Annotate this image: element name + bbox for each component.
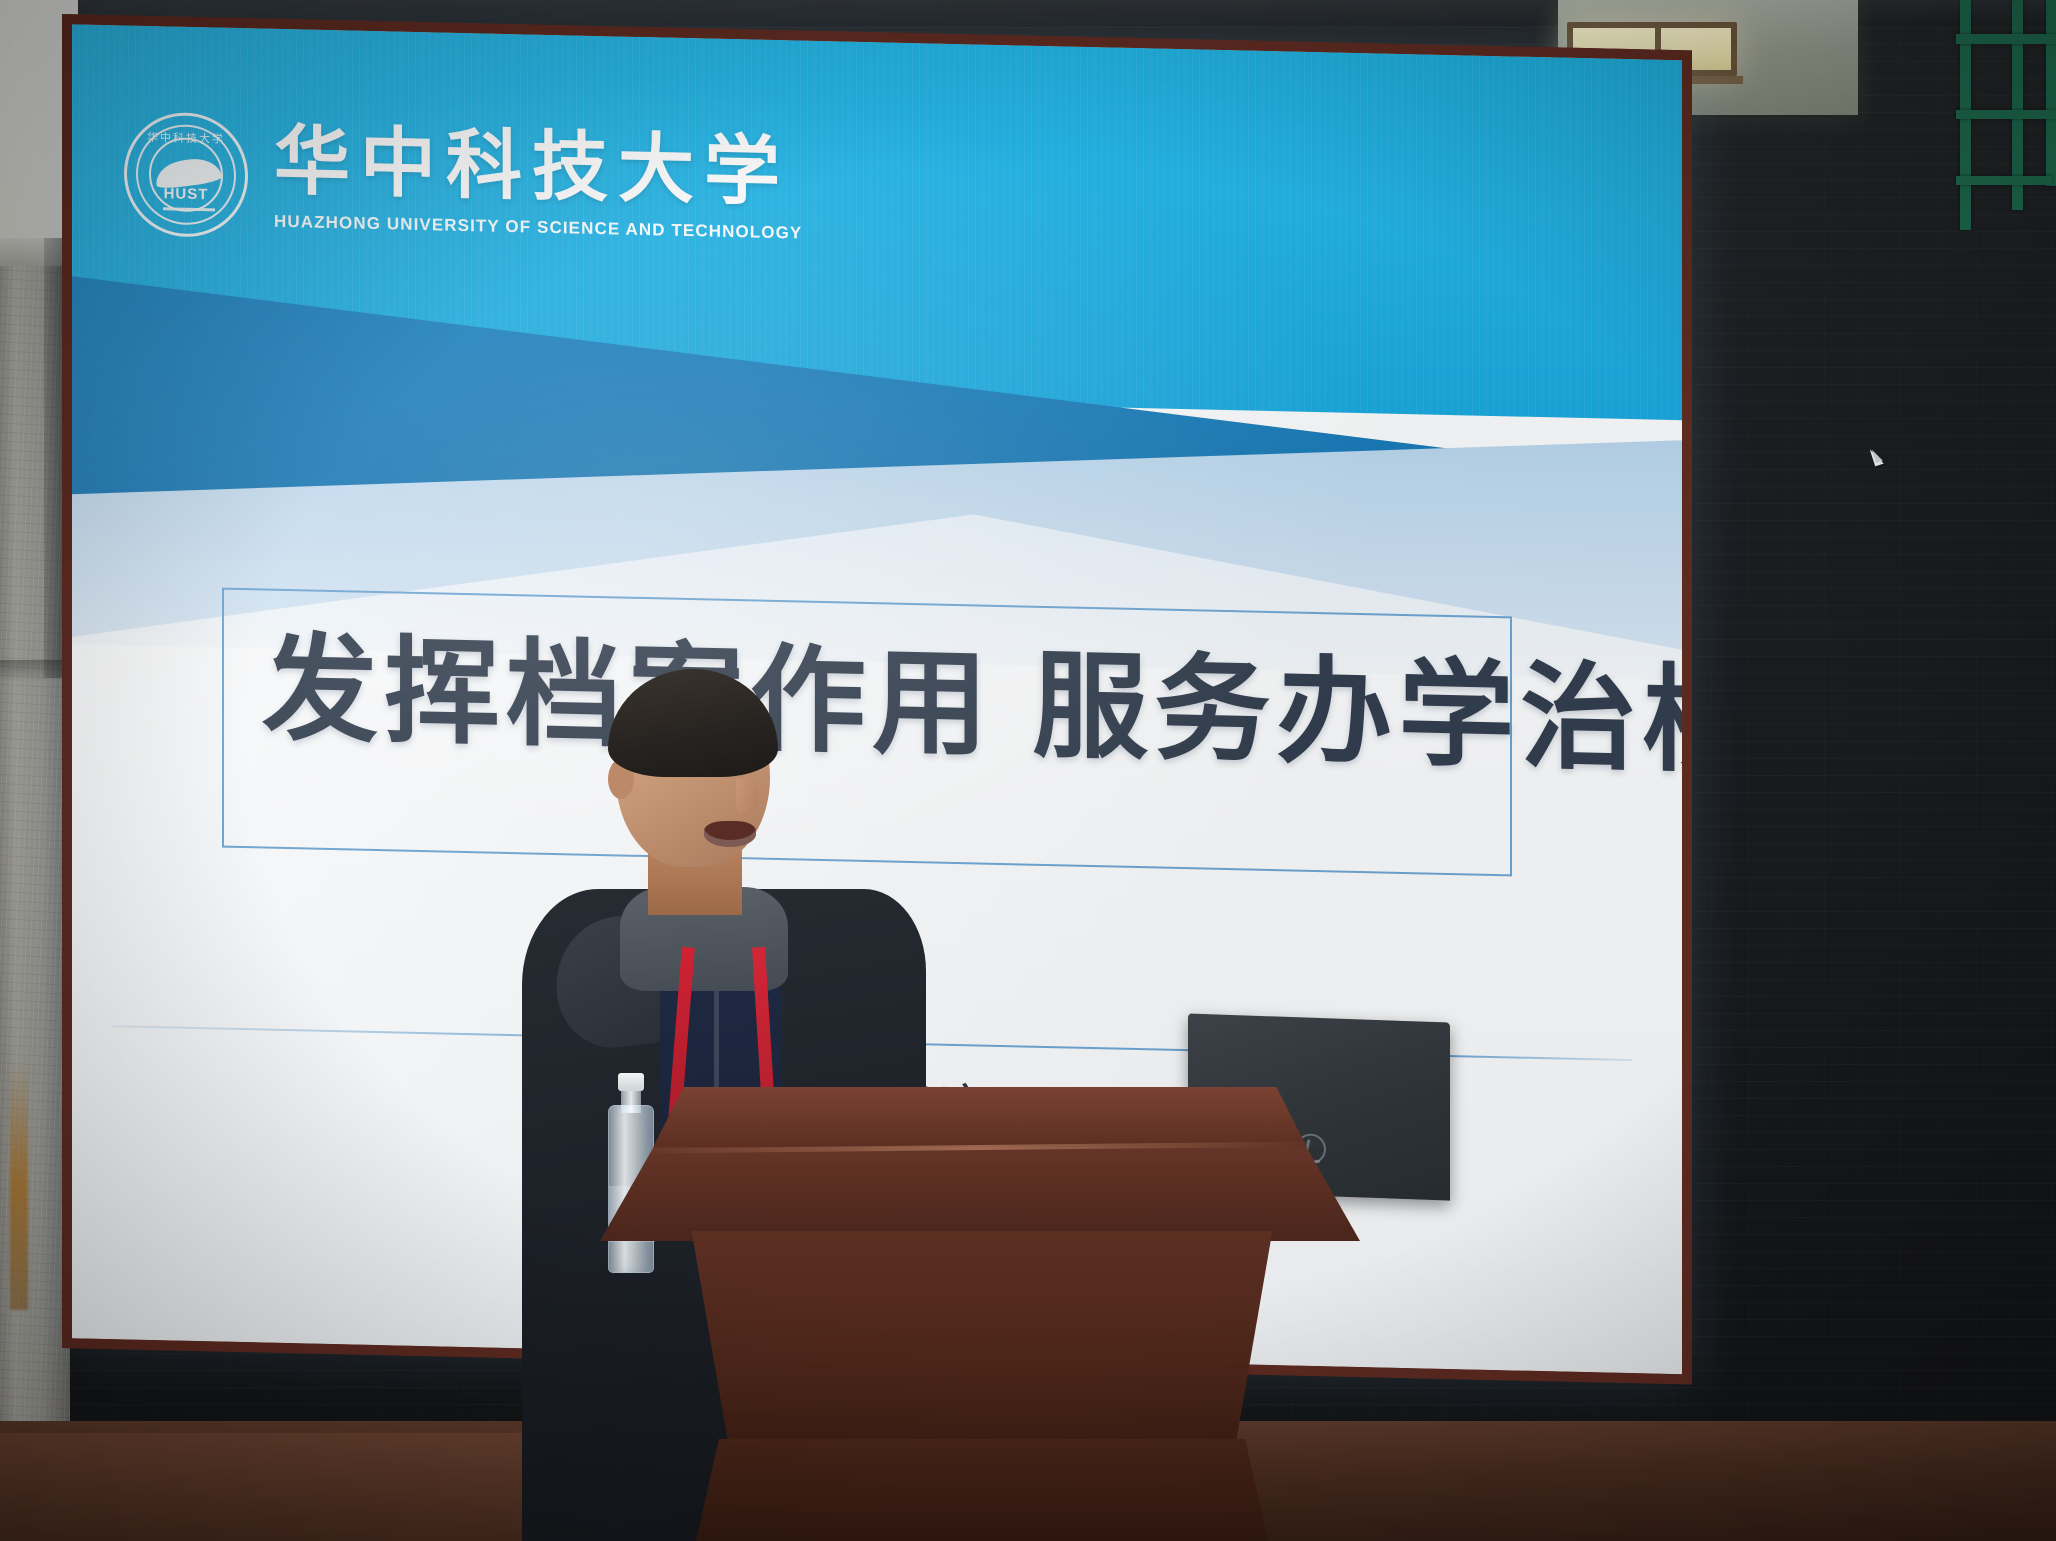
university-name-cn: 华中科技大学 [274,122,802,214]
truss-beam [1956,110,2056,119]
speaker-mouth [704,821,756,847]
truss-post [2046,0,2056,186]
pillar-stain [10,1060,28,1310]
university-logo-lockup: 华中科技大学 HUST 华中科技大学 HUAZHONG UNIVERSITY O… [124,111,802,250]
speaker-hair [608,669,778,777]
crest-top-text: 华中科技大学 [127,128,245,147]
presentation-scene: 华中科技大学 HUST 华中科技大学 HUAZHONG UNIVERSITY O… [0,0,2056,1541]
university-name-en: HUAZHONG UNIVERSITY OF SCIENCE AND TECHN… [274,212,802,244]
podium-body [652,1231,1312,1461]
hust-crest-icon: 华中科技大学 HUST [124,111,248,238]
crest-hust-mark: HUST [127,184,245,204]
green-truss [1938,0,2056,230]
podium [600,1061,1360,1541]
speaker-nose [736,779,758,813]
truss-beam [1956,34,2056,44]
podium-base [696,1439,1268,1541]
podium-top-face [600,1087,1360,1147]
university-name-block: 华中科技大学 HUAZHONG UNIVERSITY OF SCIENCE AN… [274,122,802,244]
pillar-shadow [0,660,70,682]
truss-beam [1956,176,2052,185]
